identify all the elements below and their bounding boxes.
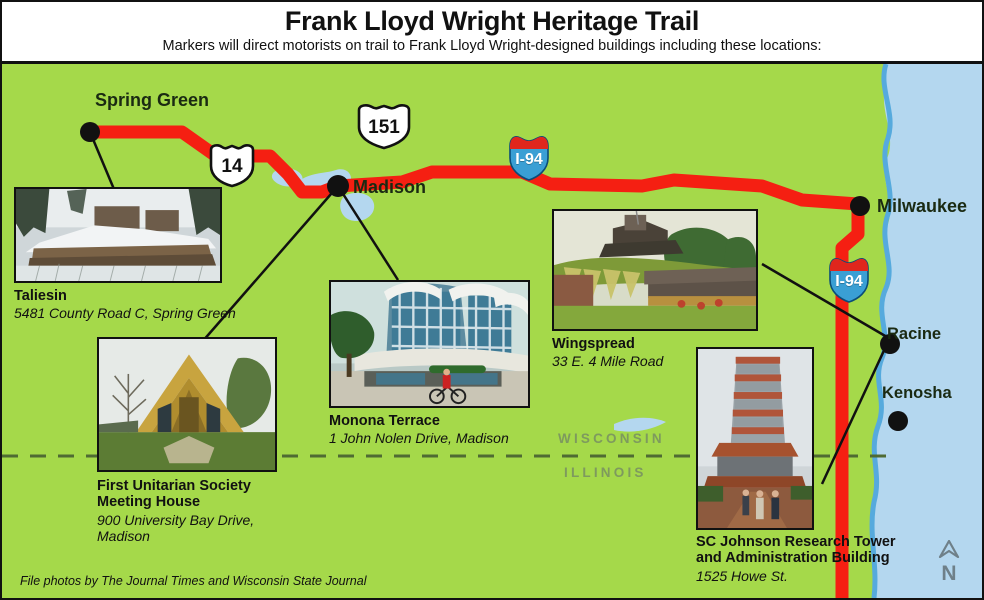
photo-wingspread: [552, 209, 758, 331]
north-arrow-icon: [938, 540, 960, 558]
compass-rose: N: [938, 540, 960, 584]
route-shield-i94-north-label: I-94: [506, 132, 552, 182]
caption-taliesin: Taliesin 5481 County Road C, Spring Gree…: [14, 288, 314, 321]
first-unitarian-photo-image: [99, 339, 275, 470]
city-label-milwaukee: Milwaukee: [877, 196, 967, 217]
taliesin-photo-image: [16, 189, 220, 281]
city-dot-spring-green: [80, 122, 100, 142]
header: Frank Lloyd Wright Heritage Trail Marker…: [2, 2, 982, 64]
caption-taliesin-address: 5481 County Road C, Spring Green: [14, 305, 314, 321]
caption-monona-terrace-title: Monona Terrace: [329, 413, 589, 429]
route-shield-i94-north[interactable]: I-94: [506, 132, 552, 182]
caption-first-unitarian-address: 900 University Bay Drive, Madison: [97, 512, 347, 544]
city-label-spring-green: Spring Green: [95, 90, 209, 111]
page-subtitle: Markers will direct motorists on trail t…: [2, 39, 982, 55]
caption-sc-johnson: SC Johnson Research Tower and Administra…: [696, 534, 966, 584]
photo-sc-johnson: [696, 347, 814, 530]
infographic-map: Frank Lloyd Wright Heritage Trail Marker…: [0, 0, 984, 600]
city-dot-madison: [327, 175, 349, 197]
caption-sc-johnson-title: SC Johnson Research Tower and Administra…: [696, 534, 966, 567]
wingspread-photo-image: [554, 211, 756, 329]
caption-first-unitarian: First Unitarian Society Meeting House 90…: [97, 478, 347, 544]
route-shield-151-label: 151: [354, 102, 414, 150]
caption-taliesin-title: Taliesin: [14, 288, 314, 304]
caption-first-unitarian-title: First Unitarian Society Meeting House: [97, 478, 347, 511]
lake-geneva: [614, 418, 666, 432]
route-shield-14-label: 14: [206, 142, 258, 188]
compass-north-label: N: [938, 563, 960, 584]
photo-monona-terrace: [329, 280, 530, 408]
caption-monona-terrace-address: 1 John Nolen Drive, Madison: [329, 430, 589, 446]
map-canvas: Spring Green Madison Milwaukee Racine Ke…: [2, 64, 982, 598]
city-dot-kenosha: [888, 411, 908, 431]
city-dot-milwaukee: [850, 196, 870, 216]
state-label-illinois: ILLINOIS: [564, 465, 647, 480]
route-shield-i94-south-label: I-94: [826, 254, 872, 304]
city-label-racine: Racine: [887, 325, 941, 344]
city-label-kenosha: Kenosha: [882, 384, 952, 403]
people: [742, 489, 779, 519]
sc-johnson-photo-image: [698, 349, 812, 528]
caption-monona-terrace: Monona Terrace 1 John Nolen Drive, Madis…: [329, 413, 589, 446]
photo-taliesin: [14, 187, 222, 283]
route-shield-i94-south[interactable]: I-94: [826, 254, 872, 304]
route-shield-14[interactable]: 14: [206, 142, 258, 188]
route-shield-151[interactable]: 151: [354, 102, 414, 150]
city-label-madison: Madison: [353, 177, 426, 198]
caption-sc-johnson-address: 1525 Howe St.: [696, 568, 966, 584]
photo-first-unitarian: [97, 337, 277, 472]
page-title: Frank Lloyd Wright Heritage Trail: [2, 7, 982, 35]
monona-terrace-photo-image: [331, 282, 528, 406]
photo-credit: File photos by The Journal Times and Wis…: [20, 574, 366, 588]
